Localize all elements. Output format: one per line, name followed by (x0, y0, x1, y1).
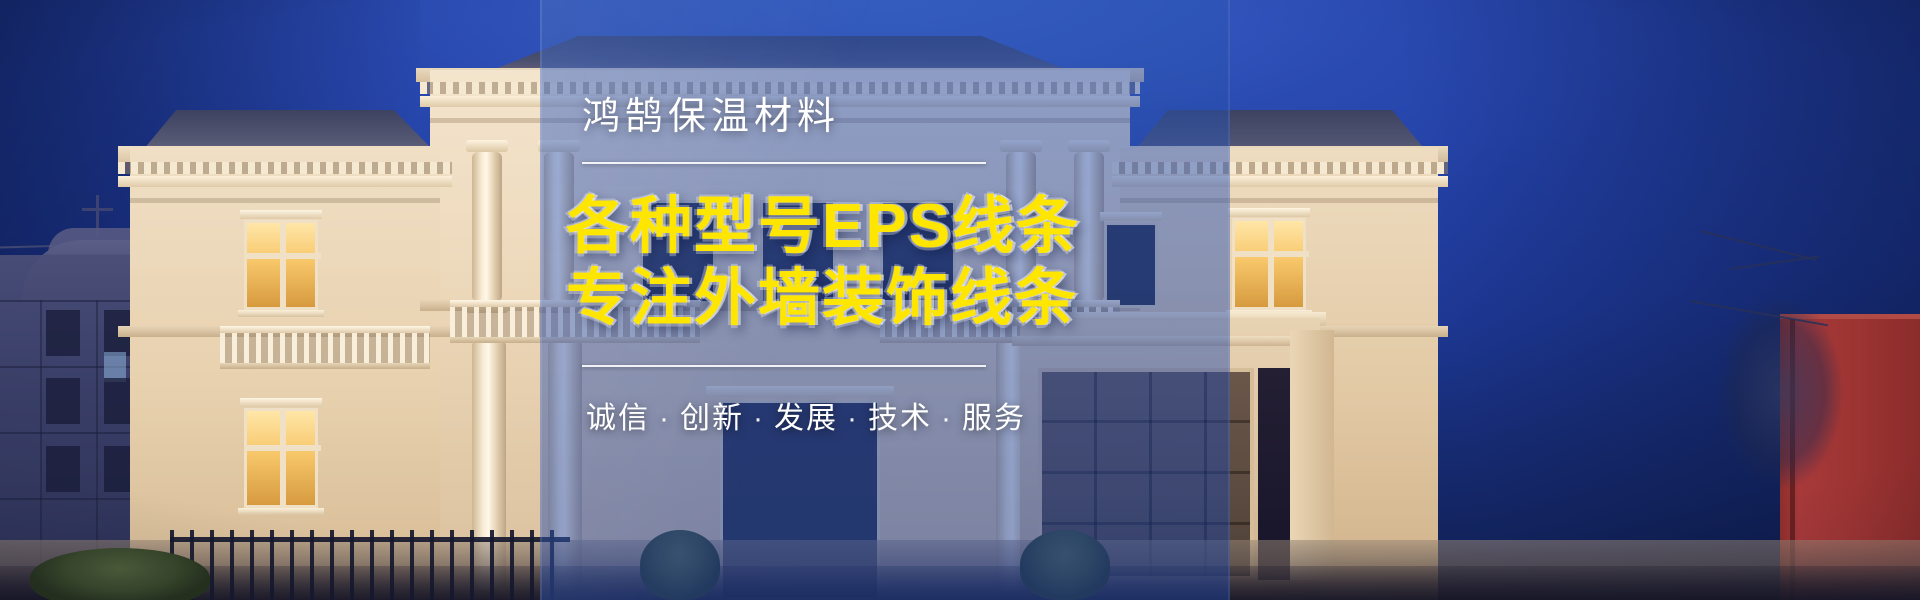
window-mullion (247, 445, 321, 451)
tagline-item-1: 诚信 (586, 402, 650, 435)
roof-mast-cross (82, 208, 113, 211)
cornice-dentils (118, 162, 452, 174)
window-mullion (1268, 221, 1274, 313)
bg-window (46, 310, 80, 356)
brand-name: 鸿鹄保温材料 (582, 98, 1216, 136)
window-mullion (280, 411, 286, 511)
balustrade (220, 333, 430, 363)
headline-line-1: 各种型号EPS线条 (566, 194, 1216, 260)
window-mullion (1235, 251, 1309, 257)
divider-bottom (582, 365, 986, 367)
tagline-item-3: 发展 (774, 402, 838, 435)
tagline-item-5: 服务 (962, 402, 1026, 435)
window-sill (238, 310, 324, 317)
tagline-separator: · (753, 402, 765, 435)
cornice-band (118, 176, 452, 187)
window-lower-left (244, 408, 318, 508)
tagline: 诚信·创新·发展·技术·服务 (586, 393, 1216, 437)
window-header (240, 398, 322, 407)
tagline-separator: · (847, 402, 859, 435)
facade-band (130, 198, 440, 203)
window-header (1228, 208, 1310, 217)
window-header (240, 210, 322, 219)
tagline-item-2: 创新 (680, 402, 744, 435)
balustrade-rail (220, 326, 430, 333)
column-capital (466, 140, 508, 152)
headline-line-2: 专注外墙装饰线条 (566, 266, 1216, 332)
window-upper-left (244, 220, 318, 310)
overlay-edge-right (1228, 0, 1230, 600)
iron-fence-rail (170, 537, 570, 542)
window-sill (238, 508, 324, 515)
hero-text-block: 鸿鹄保温材料 各种型号EPS线条 专注外墙装饰线条 诚信·创新·发展·技术·服务 (556, 98, 1216, 437)
balustrade-base (220, 363, 430, 369)
bg-window (46, 378, 80, 424)
portico-column (472, 152, 502, 302)
bg-window (46, 446, 80, 492)
tagline-item-4: 技术 (868, 402, 932, 435)
window-mullion (247, 253, 321, 259)
overlay-edge-left (540, 0, 542, 600)
window-upper-right (1232, 218, 1306, 310)
tagline-separator: · (941, 402, 953, 435)
tagline-separator: · (659, 402, 671, 435)
hero-banner: 鸿鹄保温材料 各种型号EPS线条 专注外墙装饰线条 诚信·创新·发展·技术·服务 (0, 0, 1920, 600)
window-mullion (280, 223, 286, 313)
shrub (30, 548, 210, 600)
tree-right (1690, 300, 1870, 530)
divider-top (582, 162, 986, 164)
